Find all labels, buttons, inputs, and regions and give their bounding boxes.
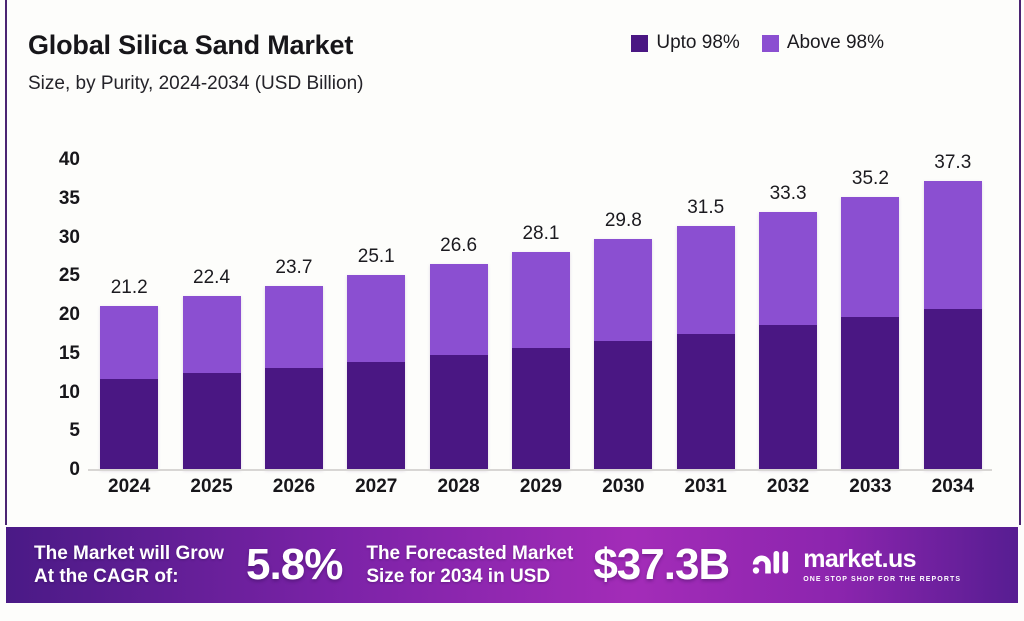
market-us-logo-icon bbox=[751, 548, 793, 583]
bar-stack bbox=[512, 252, 570, 470]
footer-cagr-label: The Market will Grow At the CAGR of: bbox=[34, 542, 224, 588]
y-axis-tick-10: 10 bbox=[59, 382, 80, 404]
x-axis-tick-2031: 2031 bbox=[665, 476, 747, 498]
bar-data-label: 29.8 bbox=[582, 210, 664, 232]
x-axis-tick-2026: 2026 bbox=[253, 476, 335, 498]
bar-data-label: 21.2 bbox=[88, 277, 170, 299]
bar-data-label: 37.3 bbox=[912, 152, 994, 174]
y-axis: 0510152025303540 bbox=[28, 160, 80, 470]
chart-infographic: Global Silica Sand Market Size, by Purit… bbox=[0, 0, 1024, 621]
bar-segment-upto-98 bbox=[677, 334, 735, 470]
footer-forecast-label: The Forecasted Market Size for 2034 in U… bbox=[366, 542, 573, 588]
x-axis-tick-2033: 2033 bbox=[829, 476, 911, 498]
bar-stack bbox=[841, 197, 899, 470]
bar-data-label: 22.4 bbox=[170, 267, 252, 289]
bar-segment-above-98 bbox=[512, 252, 570, 348]
bar-segment-upto-98 bbox=[265, 368, 323, 470]
bar-stack bbox=[100, 306, 158, 470]
x-axis-tick-2028: 2028 bbox=[417, 476, 499, 498]
bar-data-label: 25.1 bbox=[335, 246, 417, 268]
x-axis-tick-2030: 2030 bbox=[582, 476, 664, 498]
bar-stack bbox=[759, 212, 817, 470]
brand-logo: market.us ONE STOP SHOP FOR THE REPORTS bbox=[751, 547, 961, 583]
y-axis-tick-30: 30 bbox=[59, 227, 80, 249]
bar-stack bbox=[924, 181, 982, 470]
legend-item-label: Upto 98% bbox=[656, 32, 739, 54]
page-subtitle: Size, by Purity, 2024-2034 (USD Billion) bbox=[28, 72, 994, 96]
bar-segment-upto-98 bbox=[759, 325, 817, 470]
bar-data-label: 35.2 bbox=[829, 168, 911, 190]
bar-segment-upto-98 bbox=[100, 379, 158, 470]
bar-segment-upto-98 bbox=[841, 317, 899, 470]
bar-column-2029: 28.1 bbox=[500, 160, 582, 470]
x-axis-tick-2024: 2024 bbox=[88, 476, 170, 498]
bar-segment-above-98 bbox=[347, 275, 405, 361]
bar-data-label: 31.5 bbox=[665, 197, 747, 219]
bar-series-group: 21.222.423.725.126.628.129.831.533.335.2… bbox=[88, 160, 994, 470]
x-axis: 2024202520262027202820292030203120322033… bbox=[88, 476, 994, 498]
bar-segment-upto-98 bbox=[594, 341, 652, 470]
y-axis-tick-5: 5 bbox=[69, 420, 80, 442]
bar-column-2025: 22.4 bbox=[170, 160, 252, 470]
bar-segment-above-98 bbox=[100, 306, 158, 379]
bar-data-label: 33.3 bbox=[747, 183, 829, 205]
bar-column-2027: 25.1 bbox=[335, 160, 417, 470]
x-axis-tick-2025: 2025 bbox=[170, 476, 252, 498]
bar-segment-upto-98 bbox=[183, 373, 241, 470]
legend-item-label: Above 98% bbox=[787, 32, 884, 54]
x-axis-baseline bbox=[88, 469, 992, 471]
x-axis-tick-2029: 2029 bbox=[500, 476, 582, 498]
bar-stack bbox=[265, 286, 323, 470]
chart-legend: Upto 98%Above 98% bbox=[631, 32, 884, 54]
x-axis-tick-2027: 2027 bbox=[335, 476, 417, 498]
bar-column-2031: 31.5 bbox=[665, 160, 747, 470]
y-axis-tick-35: 35 bbox=[59, 188, 80, 210]
footer-forecast-value: $37.3B bbox=[593, 540, 729, 590]
bar-data-label: 28.1 bbox=[500, 223, 582, 245]
bar-segment-above-98 bbox=[430, 264, 488, 355]
bar-column-2026: 23.7 bbox=[253, 160, 335, 470]
bar-column-2034: 37.3 bbox=[912, 160, 994, 470]
bar-column-2024: 21.2 bbox=[88, 160, 170, 470]
bar-column-2030: 29.8 bbox=[582, 160, 664, 470]
bar-data-label: 23.7 bbox=[253, 257, 335, 279]
bar-data-label: 26.6 bbox=[417, 235, 499, 257]
chart-plot-area: 0510152025303540 21.222.423.725.126.628.… bbox=[28, 160, 994, 515]
bar-segment-above-98 bbox=[594, 239, 652, 341]
bar-stack bbox=[347, 275, 405, 470]
bar-stack bbox=[183, 296, 241, 470]
y-axis-tick-0: 0 bbox=[69, 459, 80, 481]
footer-cagr-value: 5.8% bbox=[246, 540, 342, 590]
bar-segment-above-98 bbox=[759, 212, 817, 325]
left-accent-rule bbox=[5, 0, 7, 525]
x-axis-tick-2034: 2034 bbox=[912, 476, 994, 498]
brand-logo-text: market.us ONE STOP SHOP FOR THE REPORTS bbox=[803, 547, 961, 583]
bar-segment-above-98 bbox=[841, 197, 899, 317]
bar-segment-above-98 bbox=[677, 226, 735, 334]
bar-column-2032: 33.3 bbox=[747, 160, 829, 470]
bar-segment-upto-98 bbox=[924, 309, 982, 470]
right-accent-rule bbox=[1019, 0, 1021, 525]
bar-segment-above-98 bbox=[924, 181, 982, 309]
bar-stack bbox=[677, 226, 735, 470]
bar-segment-above-98 bbox=[183, 296, 241, 373]
bar-stack bbox=[430, 264, 488, 470]
bar-column-2033: 35.2 bbox=[829, 160, 911, 470]
y-axis-tick-40: 40 bbox=[59, 149, 80, 171]
legend-item-0: Upto 98% bbox=[631, 32, 739, 54]
footer-banner: The Market will Grow At the CAGR of: 5.8… bbox=[6, 527, 1018, 603]
legend-swatch-icon bbox=[631, 35, 648, 52]
bar-segment-upto-98 bbox=[430, 355, 488, 470]
bar-segment-upto-98 bbox=[512, 348, 570, 470]
legend-swatch-icon bbox=[762, 35, 779, 52]
bar-column-2028: 26.6 bbox=[417, 160, 499, 470]
brand-tagline: ONE STOP SHOP FOR THE REPORTS bbox=[803, 576, 961, 583]
y-axis-tick-20: 20 bbox=[59, 304, 80, 326]
bar-stack bbox=[594, 239, 652, 470]
legend-item-1: Above 98% bbox=[762, 32, 884, 54]
x-axis-tick-2032: 2032 bbox=[747, 476, 829, 498]
y-axis-tick-25: 25 bbox=[59, 265, 80, 287]
y-axis-tick-15: 15 bbox=[59, 343, 80, 365]
bar-segment-upto-98 bbox=[347, 362, 405, 471]
bar-segment-above-98 bbox=[265, 286, 323, 367]
brand-name: market.us bbox=[803, 547, 961, 572]
